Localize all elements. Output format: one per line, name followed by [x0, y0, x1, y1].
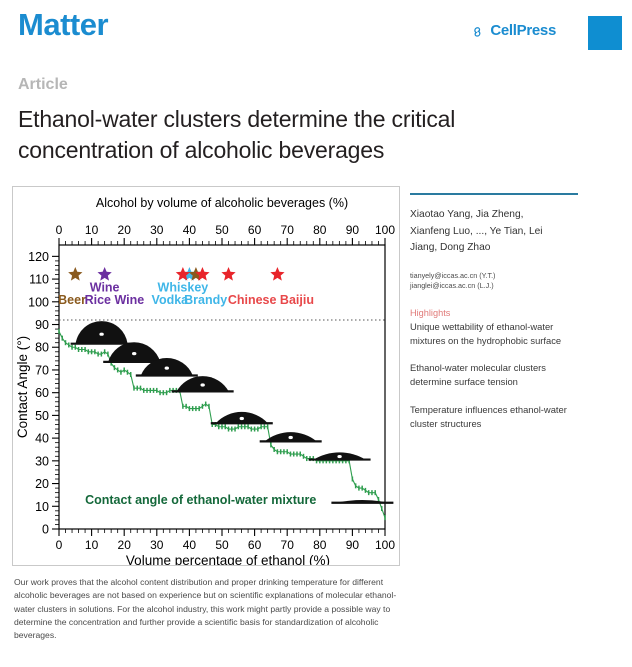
x-axis-title: Volume percentage of ethanol (%) — [126, 553, 330, 565]
x-axis-tick-label: 100 — [375, 538, 395, 552]
droplet-0 — [71, 321, 133, 344]
journal-title: Matter — [18, 9, 108, 40]
droplet-4 — [211, 412, 273, 423]
y-axis-tick-label: 80 — [35, 341, 49, 355]
contact-angle-chart: Alcohol by volume of alcoholic beverages… — [13, 187, 399, 565]
beverage-label: Brandy — [184, 293, 227, 307]
beverage-star-marker — [221, 267, 235, 281]
sidebar-divider — [410, 193, 578, 195]
droplet-7 — [331, 500, 393, 503]
beverage-star-marker — [270, 267, 284, 281]
y-axis-tick-label: 60 — [35, 386, 49, 400]
x-axis-tick-label: 20 — [118, 538, 132, 552]
cellpress-logo: CellPress — [472, 22, 556, 39]
beverage-star-marker — [98, 267, 112, 281]
droplet-3 — [172, 376, 234, 391]
top-axis-tick-label: 100 — [375, 223, 395, 237]
y-axis-tick-label: 120 — [28, 250, 49, 264]
top-axis-tick-label: 70 — [281, 223, 295, 237]
top-axis-tick-label: 10 — [85, 223, 99, 237]
page-header: Matter CellPress — [0, 0, 632, 62]
graphical-abstract-figure: Alcohol by volume of alcoholic beverages… — [12, 186, 400, 566]
top-axis-tick-label: 90 — [346, 223, 360, 237]
y-axis-tick-label: 100 — [28, 295, 49, 309]
beverage-star-marker — [68, 267, 82, 281]
cellpress-wordmark: CellPress — [490, 22, 556, 39]
x-axis-tick-label: 30 — [150, 538, 164, 552]
top-axis-tick-label: 0 — [56, 223, 63, 237]
y-axis-tick-label: 20 — [35, 477, 49, 491]
x-axis-tick-label: 90 — [346, 538, 360, 552]
highlights-heading: Highlights — [410, 308, 590, 318]
x-axis-tick-label: 80 — [313, 538, 327, 552]
x-axis-tick-label: 0 — [56, 538, 63, 552]
header-blue-square — [588, 16, 622, 50]
article-title: Ethanol-water clusters determine the cri… — [18, 104, 578, 165]
x-axis-tick-label: 50 — [215, 538, 229, 552]
top-axis-tick-label: 20 — [118, 223, 132, 237]
cellpress-link-icon — [472, 24, 486, 38]
x-axis-tick-label: 70 — [281, 538, 295, 552]
y-axis-title: Contact Angle (°) — [15, 336, 30, 438]
y-axis-tick-label: 70 — [35, 363, 49, 377]
droplet-6 — [309, 452, 371, 459]
top-axis-title: Alcohol by volume of alcoholic beverages… — [96, 196, 348, 210]
y-axis-tick-label: 40 — [35, 432, 49, 446]
highlight-item-3: Temperature influences ethanol-water clu… — [410, 403, 570, 431]
droplet-1 — [103, 342, 165, 362]
y-axis-tick-label: 50 — [35, 409, 49, 423]
y-axis-tick-label: 90 — [35, 318, 49, 332]
y-axis-tick-label: 110 — [29, 273, 49, 287]
author-list: Xiaotao Yang, Jia Zheng, Xianfeng Luo, .… — [410, 207, 560, 257]
email-2[interactable]: jianglei@iccas.ac.cn (L.J.) — [410, 281, 590, 292]
email-1[interactable]: tianyely@iccas.ac.cn (Y.T.) — [410, 271, 590, 282]
beverage-label: Rice Wine — [85, 293, 145, 307]
highlight-item-1: Unique wettability of ethanol-water mixt… — [410, 320, 570, 348]
top-axis-tick-label: 40 — [183, 223, 197, 237]
chart-annotation: Contact angle of ethanol-water mixture — [85, 493, 316, 507]
correspondence-emails: tianyely@iccas.ac.cn (Y.T.) jianglei@icc… — [410, 271, 590, 293]
y-axis-tick-label: 30 — [35, 454, 49, 468]
highlight-item-2: Ethanol-water molecular clusters determi… — [410, 361, 570, 389]
top-axis-tick-label: 30 — [150, 223, 164, 237]
x-axis-tick-label: 10 — [85, 538, 99, 552]
beverage-label: Chinese Baijiu — [228, 293, 314, 307]
beverage-label: Beer — [58, 293, 86, 307]
top-axis-tick-label: 50 — [215, 223, 229, 237]
article-type-label: Article — [18, 76, 68, 94]
top-axis-tick-label: 60 — [248, 223, 262, 237]
y-axis-tick-label: 0 — [42, 523, 49, 537]
top-axis-tick-label: 80 — [313, 223, 327, 237]
x-axis-tick-label: 40 — [183, 538, 197, 552]
figure-caption: Our work proves that the alcohol content… — [14, 576, 400, 643]
article-sidebar: Xiaotao Yang, Jia Zheng, Xianfeng Luo, .… — [410, 193, 590, 444]
x-axis-tick-label: 60 — [248, 538, 262, 552]
y-axis-tick-label: 10 — [35, 500, 49, 514]
